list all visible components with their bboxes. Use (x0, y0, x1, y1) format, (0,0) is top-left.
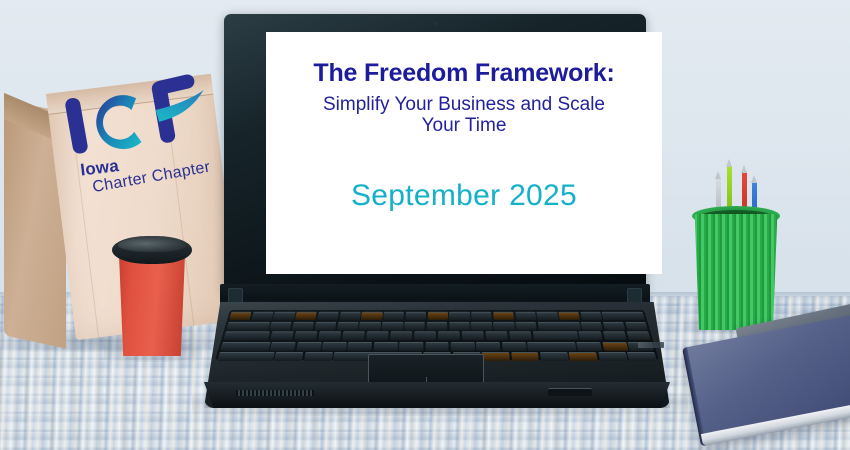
pen-cup-body (692, 214, 780, 330)
key (602, 312, 645, 320)
laptop-card-slot (548, 388, 592, 396)
laptop-lid: The Freedom Framework: Simplify Your Bus… (224, 14, 646, 292)
key (229, 312, 252, 320)
key (304, 352, 333, 361)
cup-lid-top (118, 238, 186, 252)
key (476, 341, 501, 350)
slide-title: The Freedom Framework: (276, 60, 652, 88)
key (450, 341, 474, 350)
key (515, 321, 537, 329)
pen-tip-icon (726, 159, 732, 167)
key (580, 312, 602, 320)
keyboard-row (229, 312, 645, 320)
key (425, 341, 449, 350)
key (537, 321, 580, 329)
key (226, 321, 270, 329)
key (294, 331, 318, 340)
key (482, 352, 510, 361)
key (602, 321, 625, 329)
key (626, 331, 651, 340)
cup-lid (112, 236, 192, 264)
key (217, 352, 275, 361)
pen-tip-icon (741, 165, 747, 173)
key (317, 312, 339, 320)
keyboard-row (223, 331, 651, 340)
key (251, 312, 273, 320)
key (515, 312, 536, 320)
laptop-brand-badge (638, 342, 664, 348)
key (390, 331, 413, 340)
key (462, 331, 485, 340)
keyboard-row (220, 341, 654, 350)
key (361, 312, 382, 320)
key (602, 331, 626, 340)
laptop-vent (236, 390, 314, 396)
key (602, 341, 628, 350)
key (342, 331, 365, 340)
key (347, 341, 372, 350)
presentation-slide: The Freedom Framework: Simplify Your Bus… (266, 32, 662, 274)
key (509, 331, 532, 340)
key (273, 312, 295, 320)
key (270, 341, 296, 350)
key (569, 352, 598, 361)
presentation-photo-scene: Iowa Charter Chapter The Freedom Framewo… (0, 0, 850, 450)
key (295, 312, 317, 320)
key (296, 341, 322, 350)
key (511, 352, 540, 361)
key (625, 321, 648, 329)
key (579, 331, 603, 340)
key (382, 321, 403, 329)
key (449, 312, 470, 320)
laptop-keyboard (215, 310, 659, 360)
key (405, 312, 426, 320)
key (269, 321, 292, 329)
key (366, 331, 389, 340)
key (598, 352, 628, 361)
key (220, 341, 270, 350)
key (322, 341, 347, 350)
coffee-cup (112, 228, 192, 356)
key (270, 331, 294, 340)
key (414, 331, 436, 340)
laptop: The Freedom Framework: Simplify Your Bus… (196, 14, 680, 414)
key (404, 321, 425, 329)
key (292, 321, 314, 329)
key (223, 331, 270, 340)
key (501, 341, 526, 350)
key (493, 321, 515, 329)
key (427, 312, 448, 320)
key (540, 352, 569, 361)
key (373, 341, 398, 350)
key (493, 312, 514, 320)
slide-subtitle: Simplify Your Business and Scale Your Ti… (304, 94, 624, 138)
cup-body (116, 252, 188, 356)
key (533, 331, 579, 340)
key (339, 312, 360, 320)
key (399, 341, 423, 350)
key (471, 312, 492, 320)
pen-cup (692, 152, 780, 332)
key (318, 331, 342, 340)
pen-tip-icon (715, 171, 721, 179)
key (274, 352, 303, 361)
key (485, 331, 508, 340)
key (438, 331, 460, 340)
key (527, 341, 577, 350)
key (359, 321, 381, 329)
key (576, 341, 602, 350)
key (627, 352, 657, 361)
key (337, 321, 359, 329)
key (580, 321, 603, 329)
key (314, 321, 336, 329)
key (558, 312, 580, 320)
slide-date: September 2025 (266, 179, 662, 213)
keyboard-row (226, 321, 648, 329)
key (383, 312, 404, 320)
key (537, 312, 559, 320)
key (449, 321, 470, 329)
key (471, 321, 492, 329)
webcam-icon (433, 22, 438, 25)
pen-tip-icon (751, 175, 757, 183)
key (427, 321, 448, 329)
laptop-screen: The Freedom Framework: Simplify Your Bus… (266, 32, 662, 274)
